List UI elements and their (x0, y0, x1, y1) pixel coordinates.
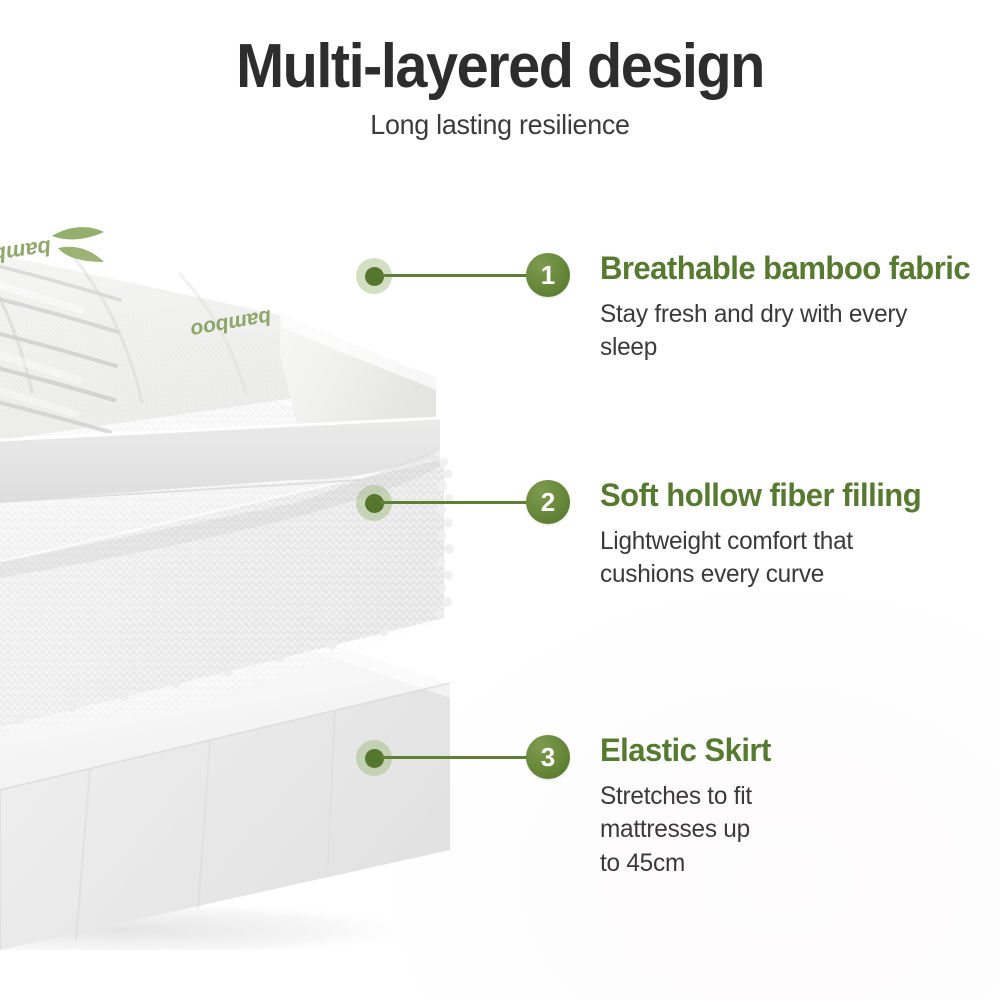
callout-leader-line-2 (380, 501, 528, 504)
callout-body-2: Lightweight comfort that cushions every … (600, 512, 923, 592)
callout-badge-2[interactable]: 2 (526, 480, 570, 524)
callout-heading-3: Elastic Skirt (600, 734, 771, 767)
page-title: Multi-layered design (35, 0, 965, 98)
callout-badge-1[interactable]: 1 (526, 253, 570, 297)
page-subtitle: Long lasting resilience (20, 98, 980, 139)
infographic-canvas: Multi-layered design Long lasting resili… (0, 0, 1000, 1000)
product-image: bamboo bamboo Bamboo (0, 150, 500, 950)
callout-heading-2: Soft hollow fiber filling (600, 479, 921, 512)
callout-badge-3[interactable]: 3 (526, 735, 570, 779)
mattress-topper-exploded-illustration: bamboo bamboo Bamboo (0, 150, 500, 950)
callout-leader-line-1 (380, 274, 528, 277)
callout-body-1: Stay fresh and dry with every sleep (600, 285, 941, 365)
callout-heading-1: Breathable bamboo fabric (600, 252, 970, 285)
callout-text-3: Elastic Skirt Stretches to fit mattresse… (600, 734, 776, 880)
callout-text-1: Breathable bamboo fabric Stay fresh and … (600, 252, 982, 365)
header-block: Multi-layered design Long lasting resili… (0, 0, 1000, 139)
callout-leader-line-3 (380, 756, 528, 759)
callout-text-2: Soft hollow fiber filling Lightweight co… (600, 479, 931, 592)
callout-body-3: Stretches to fit mattresses up to 45cm (600, 767, 772, 881)
